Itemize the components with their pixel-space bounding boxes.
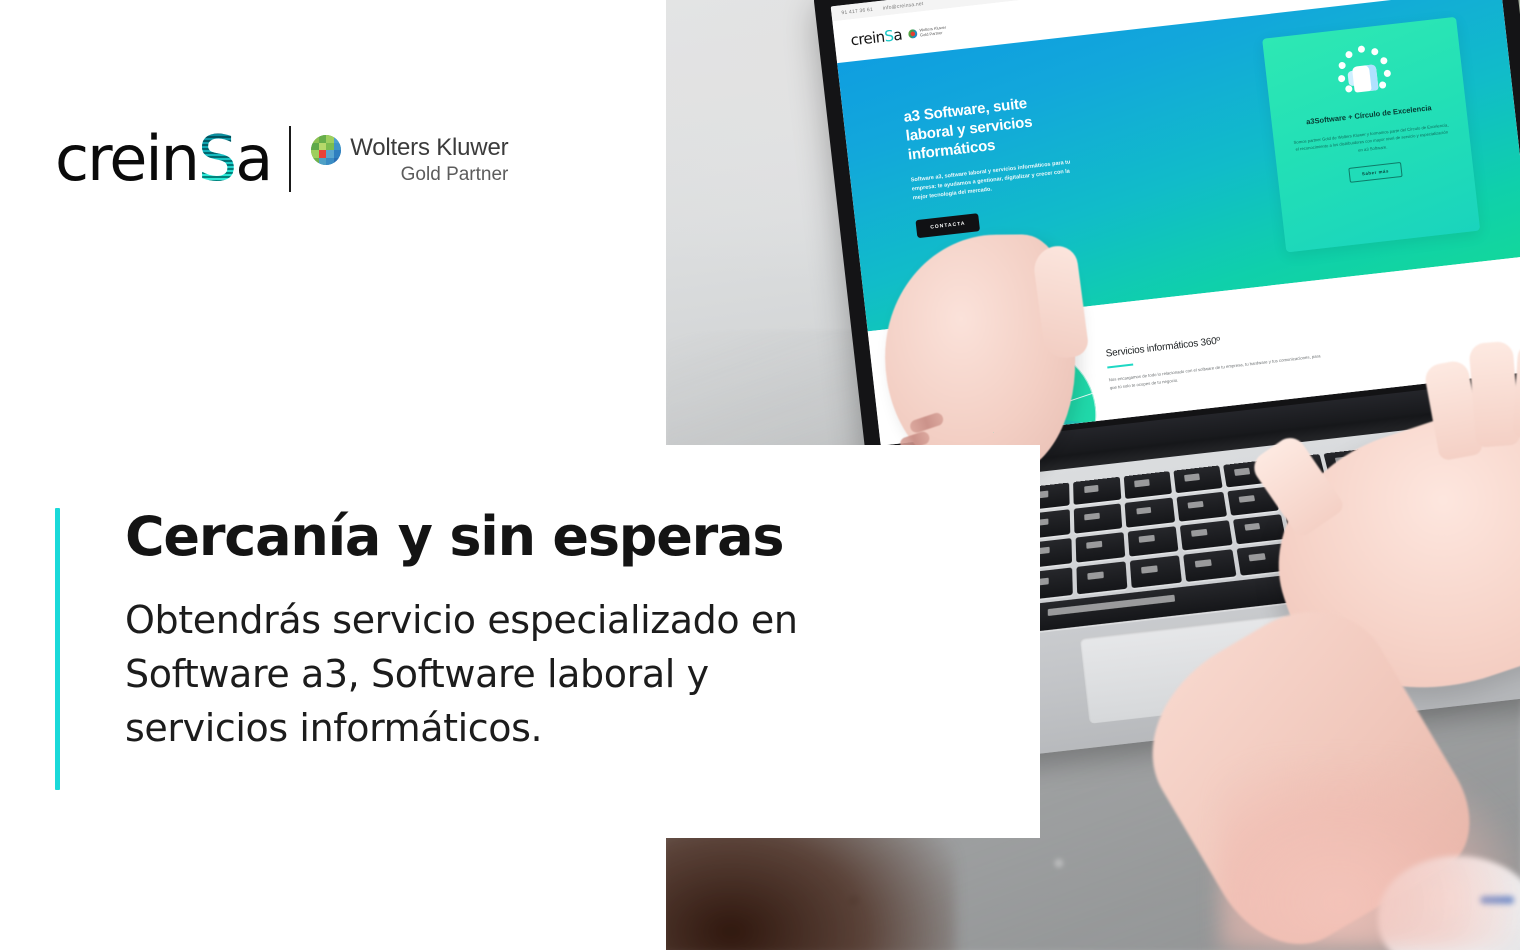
subtitle-line: Software a3, Software laboral y: [125, 648, 798, 702]
wordmark-striped-s: S: [198, 128, 235, 190]
partner-tier: Gold Partner: [350, 164, 508, 187]
services-body: Nos encargamos de todo lo relacionado co…: [1108, 352, 1328, 394]
services-title: Servicios informáticos 360º: [1105, 324, 1325, 360]
wordmark-post: a: [235, 128, 271, 190]
foreground-blur: [1220, 760, 1520, 950]
topbar-email: info@creinsa.net: [882, 1, 923, 12]
site-partner-badge: Wolters Kluwer Gold Partner: [907, 25, 947, 39]
creinsa-wordmark: creinSa: [55, 128, 271, 190]
site-wordmark: creinSa: [850, 26, 903, 50]
subtitle-line: Obtendrás servicio especializado en: [125, 594, 798, 648]
wolters-kluwer-globe-icon: [311, 135, 341, 165]
site-contact-button: CONTACTA: [915, 213, 980, 238]
partner-text: Wolters Kluwer Gold Partner: [350, 131, 508, 187]
wordmark-pre: crein: [55, 128, 198, 190]
page-title: Cercanía y sin esperas: [125, 508, 798, 566]
brand-logo[interactable]: creinSa Wolters Kluwer Gold Partner: [55, 126, 508, 192]
site-brand: creinSa Wolters Kluwer Gold Partner: [850, 21, 948, 50]
finger-ring: [908, 411, 944, 434]
topbar-phone: 91 417 36 61: [841, 6, 873, 16]
excellence-badge-icon: [1332, 42, 1396, 102]
wolters-kluwer-globe-icon: [907, 28, 917, 38]
card-more-button: Saber más: [1348, 162, 1402, 183]
headline-text: Cercanía y sin esperas Obtendrás servici…: [60, 508, 798, 790]
site-excellence-card: a3Software + Círculo de Excelencia Somos…: [1262, 17, 1480, 253]
wolters-kluwer-partner-badge: Wolters Kluwer Gold Partner: [311, 131, 508, 187]
page-root: 91 417 36 61 info@creinsa.net Intranet Á…: [0, 0, 1520, 950]
site-hero-title: a3 Software, suite laboral y servicios i…: [903, 89, 1078, 165]
site-hero-subtitle: Software a3, software laboral y servicio…: [910, 156, 1087, 204]
site-partner-text: Wolters Kluwer Gold Partner: [919, 25, 947, 38]
brand-divider: [289, 126, 291, 192]
headline-block: Cercanía y sin esperas Obtendrás servici…: [55, 508, 995, 790]
page-subtitle: Obtendrás servicio especializado en Soft…: [125, 594, 798, 756]
subtitle-line: servicios informáticos.: [125, 702, 798, 756]
partner-name: Wolters Kluwer: [350, 135, 508, 162]
services-rule: [1107, 364, 1133, 369]
